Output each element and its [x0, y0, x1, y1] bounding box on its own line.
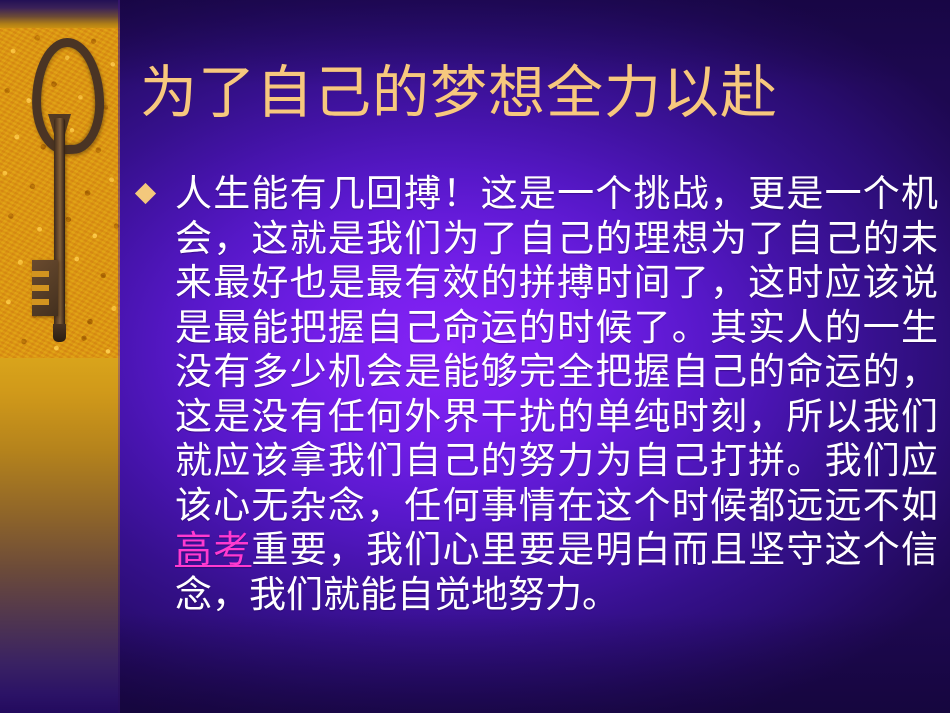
- gaokao-hyperlink[interactable]: 高考: [175, 528, 251, 571]
- strip-right-edge: [118, 0, 120, 713]
- key-tooth: [32, 299, 49, 305]
- key-tip: [53, 324, 66, 342]
- key-tooth: [32, 285, 49, 291]
- left-decorative-strip: [0, 0, 120, 713]
- key-tooth: [32, 271, 49, 277]
- key-icon: [23, 38, 95, 346]
- presentation-slide: 为了自己的梦想全力以赴 人生能有几回搏！这是一个挑战，更是一个机会，这就是我们为…: [0, 0, 950, 713]
- slide-title: 为了自己的梦想全力以赴: [140, 55, 930, 131]
- body-text-before-link: 人生能有几回搏！这是一个挑战，更是一个机会，这就是我们为了自己的理想为了自己的未…: [175, 172, 938, 527]
- body-text-after-link: 重要，我们心里要是明白而且坚守这个信念，我们就能自觉地努力。: [175, 528, 938, 616]
- diamond-bullet-icon: [135, 183, 156, 204]
- strip-top-fade: [0, 0, 120, 30]
- key-photo: [0, 28, 120, 358]
- key-bow: [31, 37, 105, 154]
- strip-lower-gradient: [0, 358, 120, 713]
- slide-body-block: 人生能有几回搏！这是一个挑战，更是一个机会，这就是我们为了自己的理想为了自己的未…: [138, 172, 938, 617]
- slide-body-text: 人生能有几回搏！这是一个挑战，更是一个机会，这就是我们为了自己的理想为了自己的未…: [175, 172, 938, 617]
